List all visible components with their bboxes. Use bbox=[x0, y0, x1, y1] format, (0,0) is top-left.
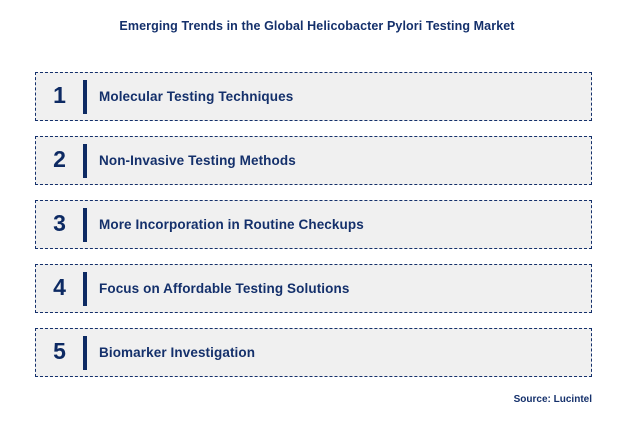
trend-number: 5 bbox=[36, 340, 83, 365]
trend-label: Biomarker Investigation bbox=[87, 345, 591, 360]
trend-label: Focus on Affordable Testing Solutions bbox=[87, 281, 591, 296]
page-title: Emerging Trends in the Global Helicobact… bbox=[0, 19, 634, 33]
trend-label: Non-Invasive Testing Methods bbox=[87, 153, 591, 168]
source-note: Source: Lucintel bbox=[514, 394, 592, 405]
infographic-page: Emerging Trends in the Global Helicobact… bbox=[0, 0, 634, 448]
trend-row-4[interactable]: 4 Focus on Affordable Testing Solutions bbox=[35, 264, 592, 313]
trend-number: 2 bbox=[36, 148, 83, 173]
trend-number: 4 bbox=[36, 276, 83, 301]
trend-label: More Incorporation in Routine Checkups bbox=[87, 217, 591, 232]
trend-list: 1 Molecular Testing Techniques 2 Non-Inv… bbox=[35, 72, 592, 377]
trend-row-3[interactable]: 3 More Incorporation in Routine Checkups bbox=[35, 200, 592, 249]
trend-label: Molecular Testing Techniques bbox=[87, 89, 591, 104]
trend-number: 3 bbox=[36, 212, 83, 237]
trend-row-1[interactable]: 1 Molecular Testing Techniques bbox=[35, 72, 592, 121]
trend-row-5[interactable]: 5 Biomarker Investigation bbox=[35, 328, 592, 377]
trend-number: 1 bbox=[36, 84, 83, 109]
trend-row-2[interactable]: 2 Non-Invasive Testing Methods bbox=[35, 136, 592, 185]
